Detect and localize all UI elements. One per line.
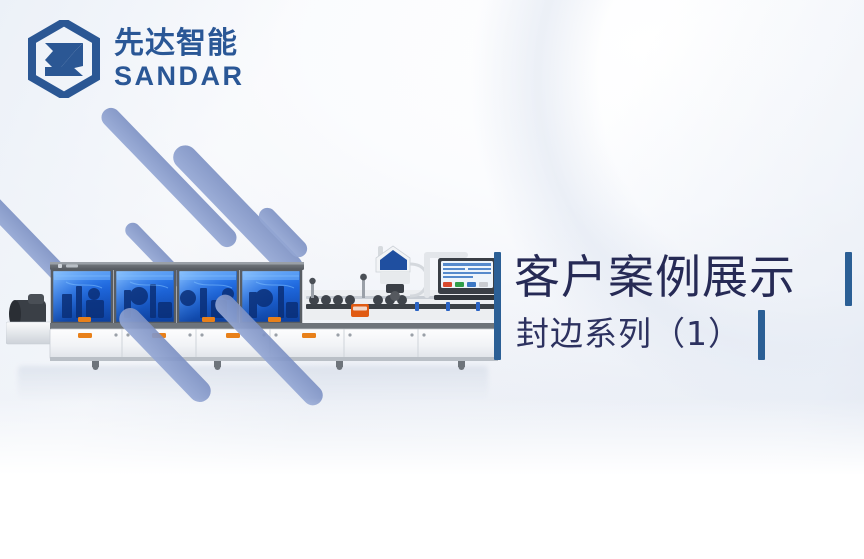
- sandar-hexagon-logo-icon: [28, 20, 100, 98]
- brand-logo[interactable]: 先达智能 SANDAR: [28, 20, 245, 98]
- page-title: 客户案例展示: [514, 246, 796, 308]
- background-bottom-fade: [0, 398, 864, 559]
- header: 先达智能 SANDAR: [0, 0, 864, 112]
- edge-banding-machine-photo: [6, 238, 498, 370]
- accent-bar-right-subtitle: [758, 310, 765, 360]
- machine-shadow: [18, 366, 488, 400]
- slide-canvas: 先达智能 SANDAR 客户案例展示 封边系列（1）: [0, 0, 864, 559]
- brand-name-cn: 先达智能: [114, 29, 245, 59]
- accent-bar-right-title: [845, 252, 852, 306]
- brand-name-en: SANDAR: [114, 63, 245, 90]
- accent-bar-left: [494, 252, 501, 360]
- hero-title-block: 客户案例展示 封边系列（1）: [494, 248, 860, 364]
- page-subtitle: 封边系列（1）: [516, 308, 742, 360]
